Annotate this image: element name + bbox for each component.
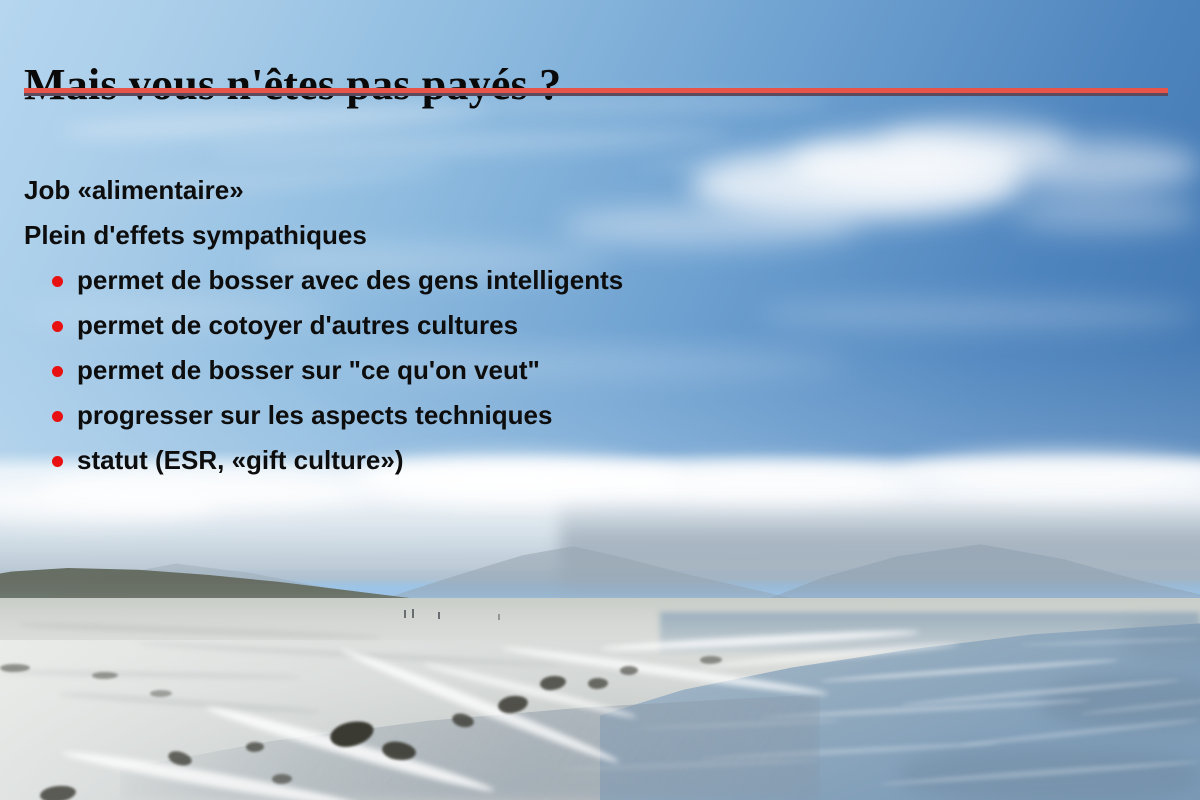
bullet-dot-icon (52, 366, 63, 377)
bullet-text: progresser sur les aspects techniques (77, 393, 552, 438)
title-underline-rule (24, 88, 1168, 96)
slide-body-list: Job «alimentaire» Plein d'effets sympath… (0, 168, 1200, 483)
bullet-text: permet de bosser sur "ce qu'on veut" (77, 348, 540, 393)
presentation-slide: Mais vous n'êtes pas payés ? Job «alimen… (0, 0, 1200, 800)
bullet-item-level2: permet de bosser avec des gens intellige… (52, 258, 1200, 303)
bullet-item-level1: Job «alimentaire» (24, 168, 1200, 213)
bullet-text: statut (ESR, «gift culture») (77, 438, 403, 483)
bullet-text: permet de bosser avec des gens intellige… (77, 258, 623, 303)
bullet-dot-icon (52, 411, 63, 422)
bullet-text: permet de cotoyer d'autres cultures (77, 303, 518, 348)
bullet-dot-icon (52, 321, 63, 332)
bullet-item-level2: progresser sur les aspects techniques (52, 393, 1200, 438)
bullet-item-level2: permet de bosser sur "ce qu'on veut" (52, 348, 1200, 393)
bullet-text: Job «alimentaire» (24, 175, 244, 205)
slide-content: Mais vous n'êtes pas payés ? Job «alimen… (0, 0, 1200, 800)
bullet-item-level1: Plein d'effets sympathiques (24, 213, 1200, 258)
bullet-dot-icon (52, 276, 63, 287)
bullet-item-level2: permet de cotoyer d'autres cultures (52, 303, 1200, 348)
slide-title: Mais vous n'êtes pas payés ? (24, 62, 561, 108)
bullet-dot-icon (52, 456, 63, 467)
bullet-text: Plein d'effets sympathiques (24, 220, 367, 250)
bullet-item-level2: statut (ESR, «gift culture») (52, 438, 1200, 483)
